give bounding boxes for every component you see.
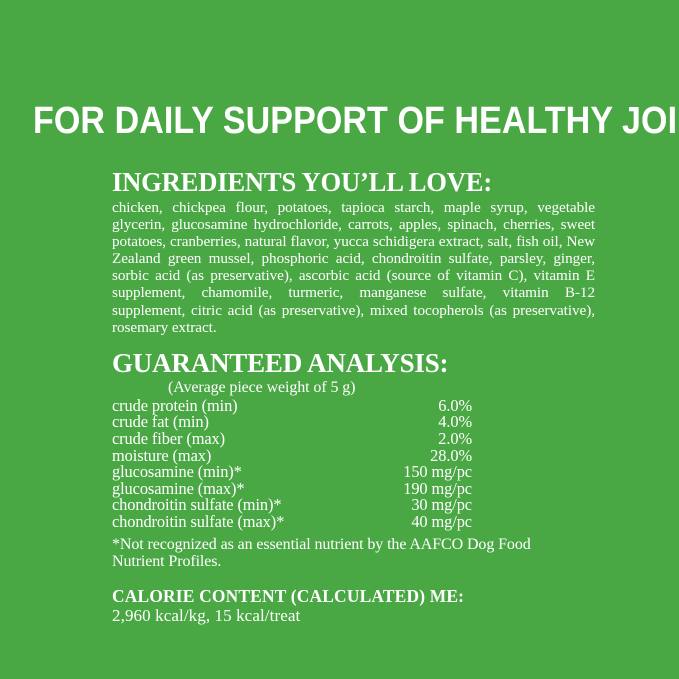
guaranteed-analysis-heading: GUARANTEED ANALYSIS: xyxy=(112,349,596,377)
ingredients-heading: INGREDIENTS YOU’LL LOVE: xyxy=(112,168,589,196)
aafco-footnote: *Not recognized as an essential nutrient… xyxy=(112,536,582,571)
guaranteed-analysis-table: crude protein (min)6.0%crude fat (min)4.… xyxy=(112,398,472,531)
analysis-rows: crude protein (min)6.0%crude fat (min)4.… xyxy=(112,398,472,531)
ingredients-list: chicken, chickpea flour, potatoes, tapio… xyxy=(112,199,595,336)
page-title: FOR DAILY SUPPORT OF HEALTHY JOINT FUNCT… xyxy=(33,101,584,141)
product-label-panel: FOR DAILY SUPPORT OF HEALTHY JOINT FUNCT… xyxy=(0,0,679,679)
nutrient-label: chondroitin sulfate (max)* xyxy=(112,514,369,531)
label-content: INGREDIENTS YOU’LL LOVE: chicken, chickp… xyxy=(112,168,596,625)
table-row: chondroitin sulfate (max)*40 mg/pc xyxy=(112,514,472,531)
calorie-content-value: 2,960 kcal/kg, 15 kcal/treat xyxy=(112,606,596,625)
calorie-content-heading: CALORIE CONTENT (CALCULATED) ME: xyxy=(112,587,596,606)
nutrient-value: 40 mg/pc xyxy=(369,514,472,531)
average-piece-weight: (Average piece weight of 5 g) xyxy=(112,378,596,397)
